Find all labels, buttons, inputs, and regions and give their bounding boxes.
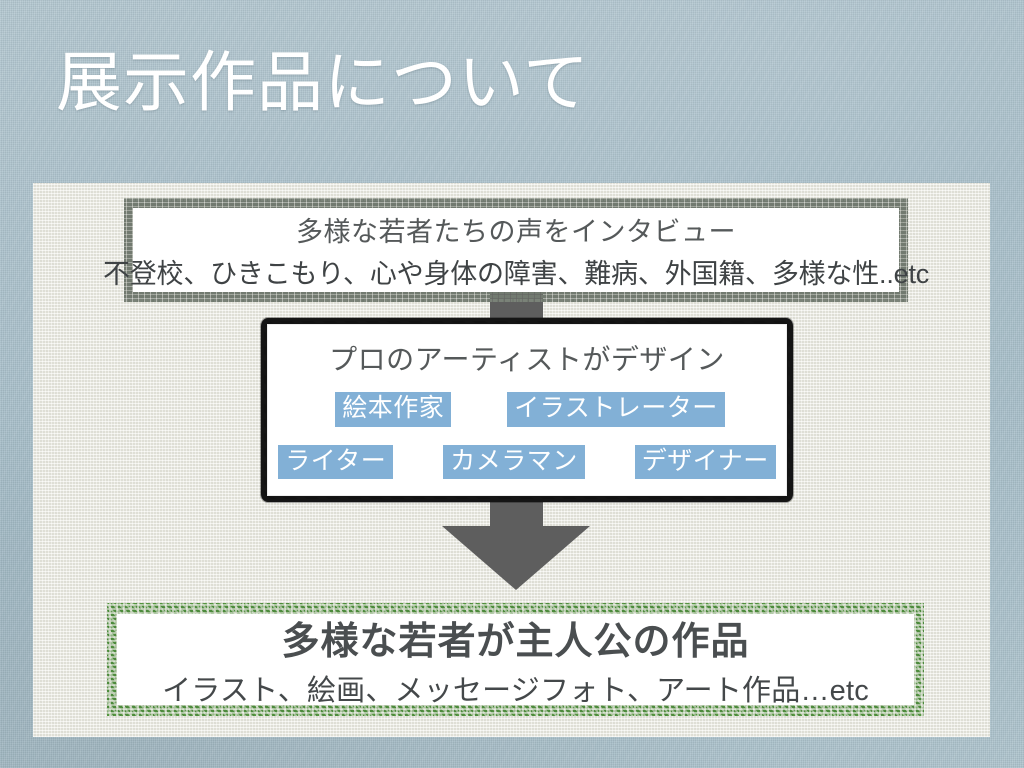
box1-subline: 不登校、ひきこもり、心や身体の障害、難病、外国籍、多様な性..etc <box>103 252 929 291</box>
content-panel: 多様な若者たちの声をインタビュー 不登校、ひきこもり、心や身体の障害、難病、外国… <box>33 183 990 737</box>
box2-headline: プロのアーティストがデザイン <box>329 338 725 378</box>
tag-picture-book-author: 絵本作家 <box>335 392 451 427</box>
flow-step-interview: 多様な若者たちの声をインタビュー 不登校、ひきこもり、心や身体の障害、難病、外国… <box>124 198 908 302</box>
tag-cameraman: カメラマン <box>443 445 585 480</box>
box1-content: 多様な若者たちの声をインタビュー 不登校、ひきこもり、心や身体の障害、難病、外国… <box>133 208 899 292</box>
box2-tag-row-1: 絵本作家 イラストレーター <box>267 392 787 427</box>
box2-content: プロのアーティストがデザイン 絵本作家 イラストレーター ライター カメラマン … <box>267 324 787 496</box>
box2-tag-row-2: ライター カメラマン デザイナー <box>267 445 787 480</box>
box3-headline: 多様な若者が主人公の作品 <box>281 610 749 665</box>
tag-writer: ライター <box>278 445 393 480</box>
box1-headline: 多様な若者たちの声をインタビュー <box>296 210 736 249</box>
page-title: 展示作品について <box>56 48 590 117</box>
slide-canvas: 展示作品について 多様な若者たちの声をインタビュー 不登校、ひきこもり、心や身体… <box>0 0 1024 768</box>
box3-content: 多様な若者が主人公の作品 イラスト、絵画、メッセージフォト、アート作品…etc <box>117 614 914 705</box>
tag-illustrator: イラストレーター <box>507 392 725 427</box>
flow-step-design: プロのアーティストがデザイン 絵本作家 イラストレーター ライター カメラマン … <box>261 318 793 502</box>
tag-designer: デザイナー <box>635 445 776 480</box>
flow-step-artwork: 多様な若者が主人公の作品 イラスト、絵画、メッセージフォト、アート作品…etc <box>107 603 924 716</box>
box3-subline: イラスト、絵画、メッセージフォト、アート作品…etc <box>162 667 869 709</box>
